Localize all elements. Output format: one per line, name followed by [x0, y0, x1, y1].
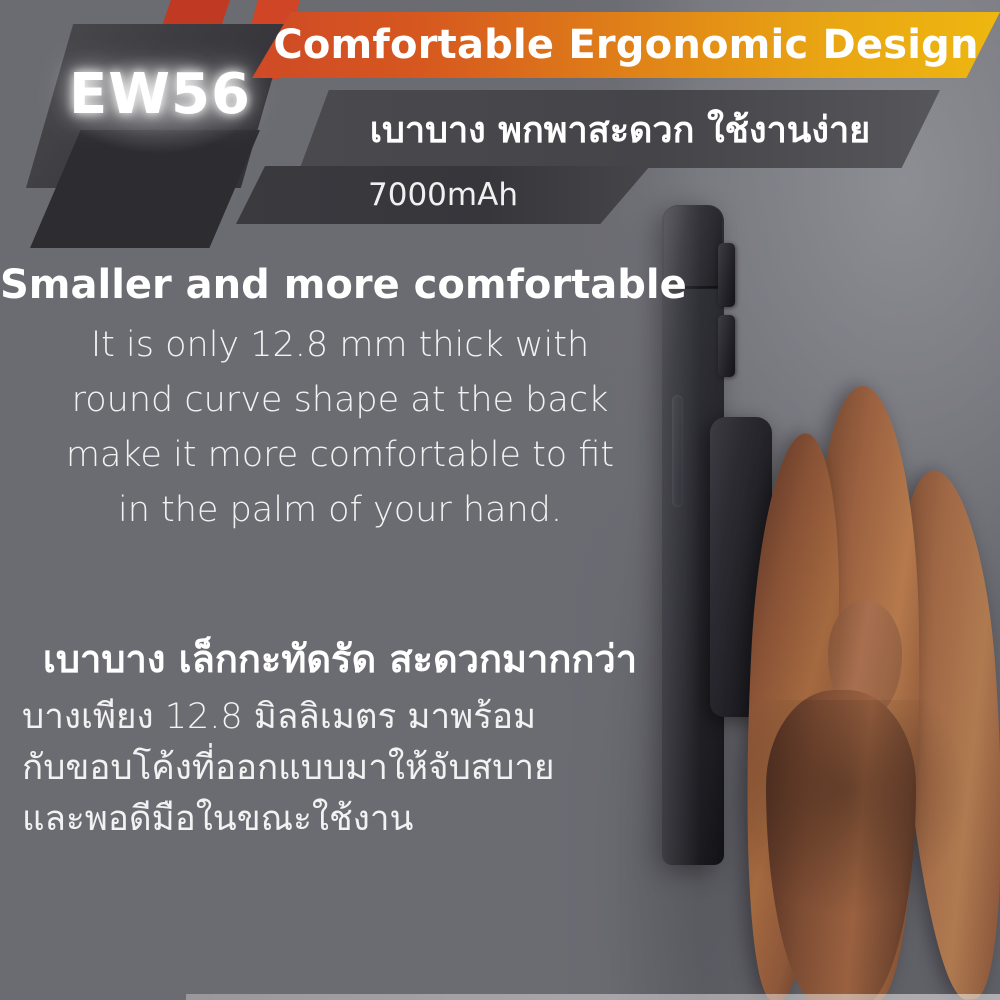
english-line: in the palm of your hand. [0, 483, 680, 538]
subtitle-thai: เบาบาง พกพาสะดวก ใช้งานง่าย [300, 90, 940, 168]
english-heading: Smaller and more comfortable [0, 262, 680, 308]
thai-line: และพอดีมือในขณะใช้งาน [22, 794, 642, 845]
hand-shading [730, 700, 1000, 1000]
camera-lens-lower [718, 315, 735, 377]
thai-line: กับขอบโค้งที่ออกแบบมาให้จับสบาย [22, 743, 642, 794]
thai-heading: เบาบาง เล็กกะทัดรัด สะดวกมากกว่า [0, 628, 680, 689]
english-line: make it more comfortable to fit [0, 428, 680, 483]
battery-capacity-label: 7000mAh [236, 166, 650, 224]
camera-lens-upper [718, 243, 735, 307]
english-line: It is only 12.8 mm thick with [0, 318, 680, 373]
product-marketing-image: EW56 Comfortable Ergonomic Design เบาบาง… [0, 0, 1000, 1000]
thai-paragraph: บางเพียง 12.8 มิลลิเมตร มาพร้อม กับขอบโค… [8, 692, 642, 845]
page-title: Comfortable Ergonomic Design [252, 12, 1000, 78]
model-badge-label: EW56 [60, 62, 260, 127]
english-line: round curve shape at the back [0, 373, 680, 428]
thai-line: บางเพียง 12.8 มิลลิเมตร มาพร้อม [22, 692, 642, 743]
bottom-edge-strip [186, 994, 1000, 1000]
english-paragraph: It is only 12.8 mm thick with round curv… [0, 318, 680, 538]
